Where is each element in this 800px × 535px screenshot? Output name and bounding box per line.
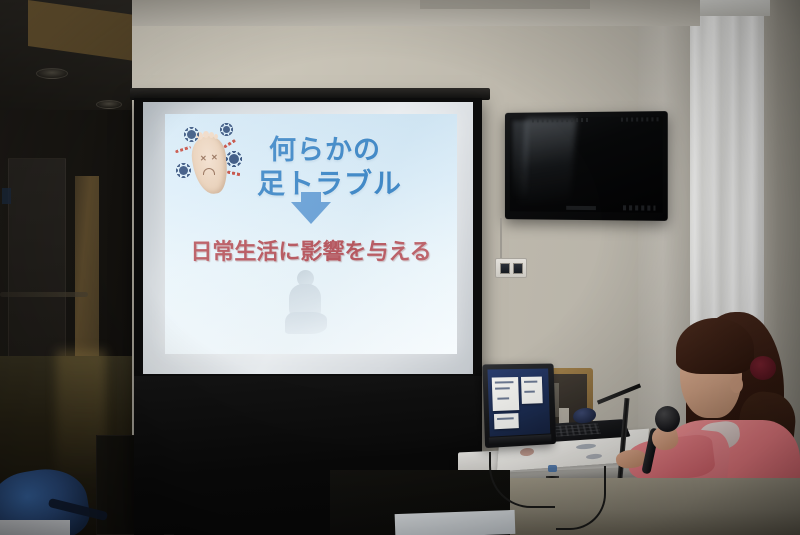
slide-title-line-2: 足トラブル — [257, 162, 402, 202]
foot-eye-icon: ✕ — [200, 156, 206, 162]
wooden-door-frame — [75, 176, 99, 366]
germ-icon — [229, 154, 239, 164]
slide-pane — [521, 377, 543, 404]
ceiling-downlight-icon — [96, 100, 122, 109]
tv-cable — [500, 218, 502, 262]
tv-brand-mark — [566, 206, 596, 210]
laptop-screen[interactable] — [487, 369, 550, 437]
hair-tie — [750, 356, 776, 380]
pain-squiggle-icon — [175, 146, 191, 154]
wall-port-icon — [513, 263, 523, 274]
pain-squiggle-icon — [227, 170, 242, 176]
microphone-icon[interactable] — [655, 406, 680, 432]
germ-icon — [179, 166, 188, 175]
handrail — [0, 292, 88, 297]
wall-sign — [2, 188, 11, 204]
foreground-object — [395, 510, 516, 535]
ceiling-downlight-icon — [36, 68, 68, 79]
wall-port-icon — [500, 263, 510, 274]
toe-icon — [214, 134, 218, 139]
ceiling — [120, 0, 700, 26]
foreground-object — [0, 520, 70, 535]
sad-foot-illustration: ✕ ✕ — [167, 120, 251, 198]
wall-mounted-tv — [505, 111, 668, 221]
tv-top-vent — [532, 118, 589, 123]
tv-bottom-vent — [623, 205, 655, 210]
screen-surface: ✕ ✕ 何らかの 足トラブル 日常生 — [143, 102, 473, 374]
projection-screen-assembly: ✕ ✕ 何らかの 足トラブル 日常生 — [134, 88, 486, 535]
germ-icon — [187, 130, 196, 139]
laptop-lid — [482, 364, 556, 449]
presentation-slide: ✕ ✕ 何らかの 足トラブル 日常生 — [165, 114, 457, 354]
slide-conclusion-text: 日常生活に影響を与える — [177, 234, 445, 266]
slide-pane — [492, 377, 519, 411]
ceiling-seam — [420, 0, 590, 9]
foot-frown-icon — [203, 168, 215, 175]
av-wall-plate[interactable] — [495, 258, 527, 278]
germ-icon — [223, 126, 230, 133]
slide-pane — [494, 413, 519, 429]
screen-body: ✕ ✕ 何らかの 足トラブル 日常生 — [134, 98, 482, 530]
lecture-room-photo: ✕ ✕ 何らかの 足トラブル 日常生 — [0, 0, 800, 535]
person-legs — [285, 312, 327, 334]
tv-reflection — [513, 121, 528, 200]
seated-person-illustration — [283, 270, 329, 334]
presenter-ear — [730, 376, 743, 393]
foot-eye-icon: ✕ — [211, 155, 217, 161]
foot-shape — [189, 134, 231, 196]
pain-squiggle-icon — [223, 139, 236, 149]
presenter-fringe — [676, 318, 754, 374]
tv-top-vent — [621, 117, 662, 121]
down-arrow-icon — [291, 202, 331, 224]
corridor-door[interactable] — [8, 158, 66, 378]
